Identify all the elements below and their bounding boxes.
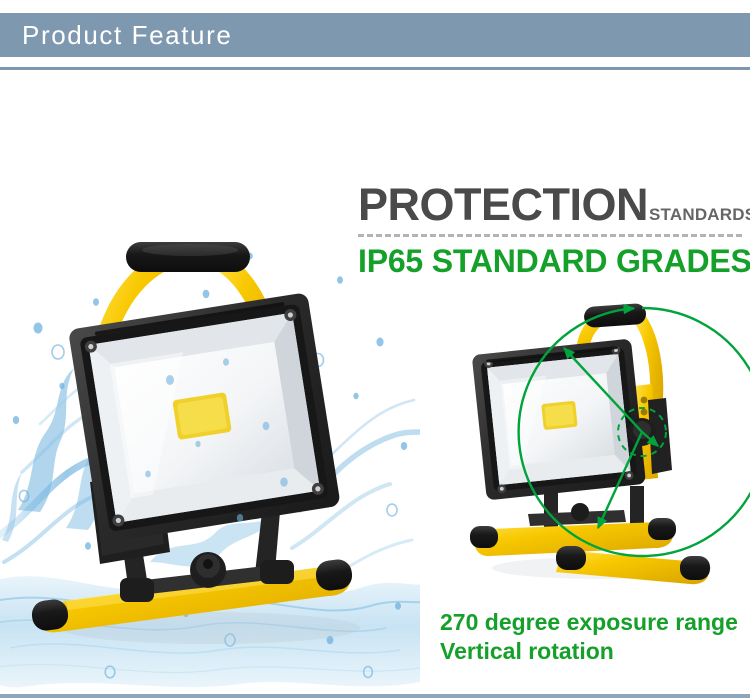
header-divider-rule bbox=[0, 67, 750, 70]
headline-block: PROTECTION STANDARDS IP65 STANDARD GRADE… bbox=[358, 182, 750, 279]
headline-green-text: IP65 STANDARD GRADES bbox=[358, 245, 750, 279]
rotation-product-image bbox=[452, 300, 744, 590]
main-product-image bbox=[30, 230, 370, 660]
rotation-caption-line1: 270 degree exposure range bbox=[440, 608, 738, 637]
rotation-caption-line2: Vertical rotation bbox=[440, 637, 738, 666]
rotation-caption: 270 degree exposure range Vertical rotat… bbox=[440, 608, 738, 666]
footer-divider-rule bbox=[0, 694, 750, 698]
headline-sub-text: STANDARDS bbox=[649, 206, 750, 223]
headline-dashed-divider bbox=[358, 234, 742, 237]
headline-row: PROTECTION STANDARDS bbox=[358, 182, 750, 227]
headline-main-text: PROTECTION bbox=[358, 182, 648, 227]
product-feature-page: Product Feature bbox=[0, 0, 750, 698]
page-title: Product Feature bbox=[0, 20, 232, 51]
header-bar: Product Feature bbox=[0, 13, 750, 57]
